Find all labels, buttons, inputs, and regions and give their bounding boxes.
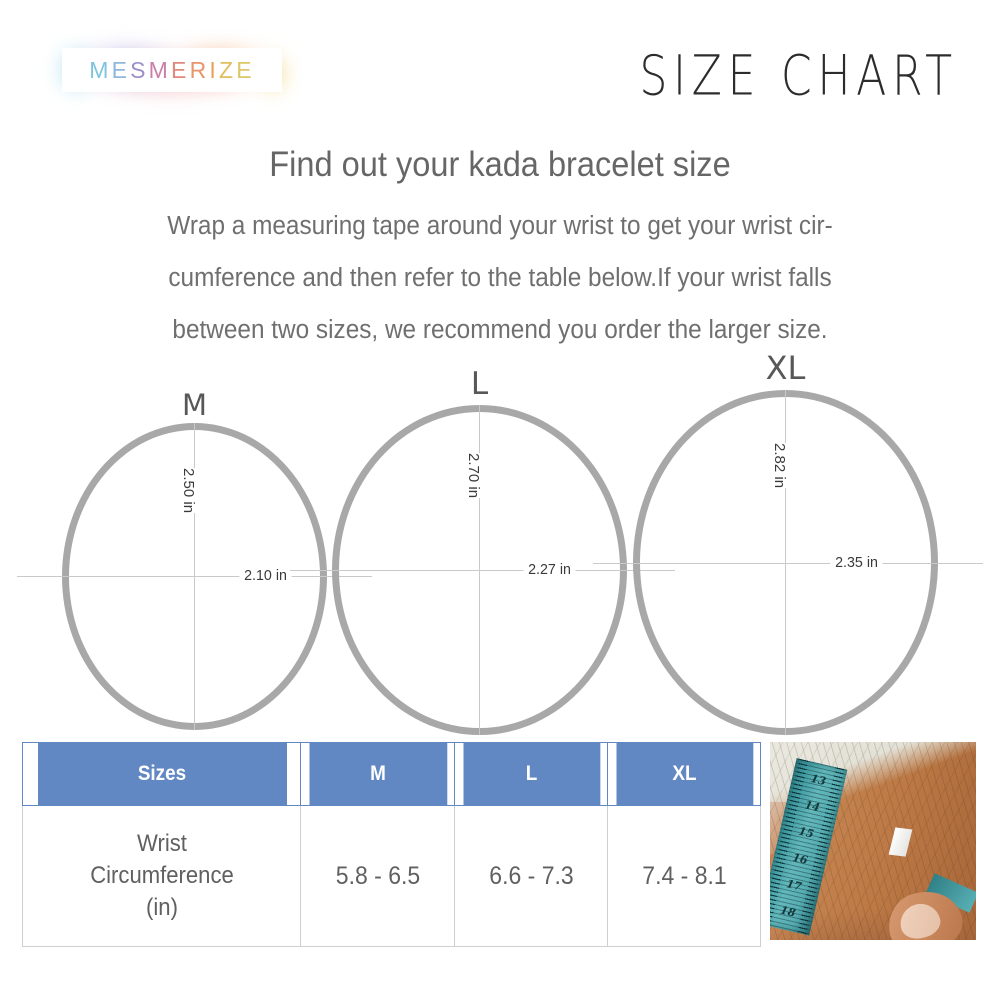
row-label-wrist-circumference: Wrist Circumference (in) bbox=[34, 806, 290, 947]
size-table: Sizes M L XL Wrist Circumference (in) 5.… bbox=[22, 742, 761, 947]
oval-width-label-xl: 2.35 in bbox=[830, 554, 882, 571]
oval-label-xl: XL bbox=[633, 349, 938, 387]
oval-unit-xl: XL 2.82 in 2.35 in bbox=[633, 355, 938, 740]
logo-letter: E bbox=[236, 57, 255, 83]
oval-horizontal-guide-m bbox=[17, 576, 372, 577]
oval-width-label-m: 2.10 in bbox=[239, 567, 291, 584]
headline: Find out your kada bracelet size bbox=[35, 145, 965, 185]
intro-line-1: Wrap a measuring tape around your wrist … bbox=[70, 200, 930, 252]
oval-height-label-l: 2.70 in bbox=[460, 453, 487, 498]
oval-height-label-m: 2.50 in bbox=[175, 468, 202, 513]
intro-paragraph: Wrap a measuring tape around your wrist … bbox=[70, 200, 930, 356]
logo-letter: E bbox=[171, 57, 190, 83]
logo-letter: R bbox=[190, 57, 210, 83]
oval-label-l: L bbox=[332, 366, 627, 402]
logo-letter: E bbox=[112, 57, 131, 83]
page-header: MESMERIZE SIZE CHART bbox=[0, 0, 1000, 130]
oval-width-label-l: 2.27 in bbox=[523, 561, 575, 578]
table-header-sizes: Sizes bbox=[36, 743, 286, 806]
oval-unit-m: M 2.50 in 2.10 in bbox=[62, 390, 327, 730]
cell-wrist-l: 6.6 - 7.3 bbox=[461, 806, 602, 947]
row-label-line-2: Circumference bbox=[35, 860, 288, 892]
table-header-row: Sizes M L XL bbox=[23, 743, 761, 806]
oval-horizontal-guide-l bbox=[290, 570, 675, 571]
table-header-xl: XL bbox=[615, 743, 753, 806]
logo-letter: Z bbox=[219, 57, 236, 83]
oval-label-m: M bbox=[62, 388, 327, 422]
table-header-l: L bbox=[462, 743, 600, 806]
logo-letter: S bbox=[130, 57, 149, 83]
oval-height-label-xl: 2.82 in bbox=[766, 443, 793, 488]
oval-diagram-group: M 2.50 in 2.10 in L 2.70 in 2.27 in XL 2… bbox=[0, 350, 1000, 745]
oval-unit-l: L 2.70 in 2.27 in bbox=[332, 370, 627, 735]
logo-letter: M bbox=[149, 57, 171, 83]
row-label-line-3: (in) bbox=[35, 892, 288, 924]
cell-wrist-m: 5.8 - 6.5 bbox=[307, 806, 449, 947]
row-label-line-1: Wrist bbox=[35, 828, 288, 860]
wrist-measurement-photo: 13 14 15 16 17 18 bbox=[770, 742, 976, 940]
logo-letter: I bbox=[209, 57, 219, 83]
page-title: SIZE CHART bbox=[640, 44, 958, 109]
logo-letter: M bbox=[89, 57, 111, 83]
table-row: Wrist Circumference (in) 5.8 - 6.5 6.6 -… bbox=[23, 806, 761, 947]
intro-line-2: cumference and then refer to the table b… bbox=[70, 252, 930, 304]
table-header-m: M bbox=[308, 743, 447, 806]
brand-logo: MESMERIZE bbox=[62, 48, 282, 92]
oval-horizontal-guide-xl bbox=[593, 563, 983, 564]
logo-wordmark: MESMERIZE bbox=[62, 48, 282, 92]
cell-wrist-xl: 7.4 - 8.1 bbox=[614, 806, 755, 947]
